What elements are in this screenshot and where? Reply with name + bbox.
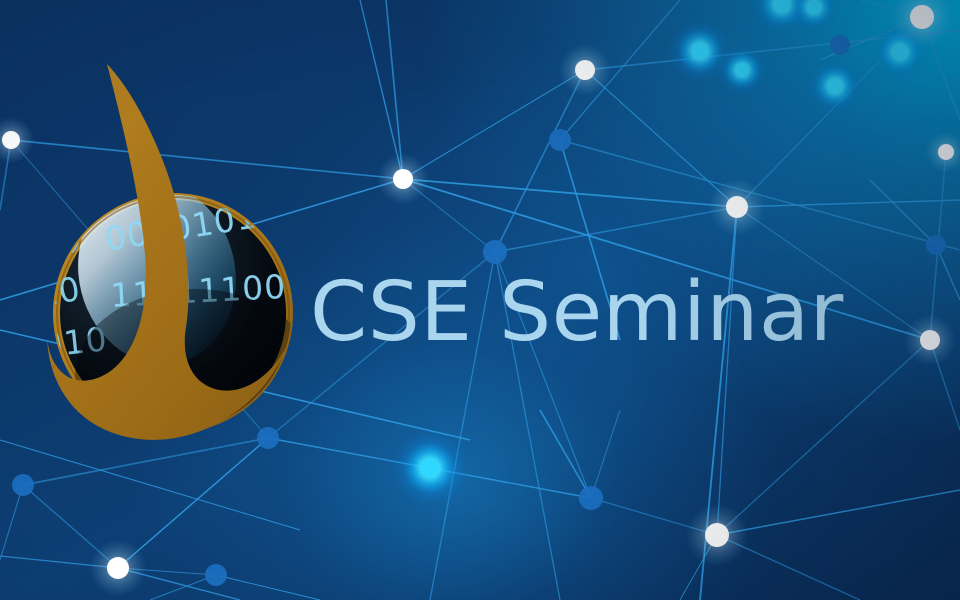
glow-dot — [808, 1, 821, 14]
network-node-white — [2, 131, 20, 149]
network-glow-dots — [392, 0, 929, 506]
network-edge — [585, 70, 737, 207]
network-edge — [737, 200, 960, 207]
cse-seminar-banner: 1 10 10 010 010. 01010 1010110 00101010 … — [0, 0, 960, 600]
svg-text:1: 1 — [45, 173, 74, 217]
network-edge — [495, 207, 737, 252]
network-node-blue — [830, 35, 850, 55]
network-node-white — [393, 169, 413, 189]
network-node-white — [726, 196, 748, 218]
network-edge — [216, 575, 320, 600]
network-node-white — [938, 144, 954, 160]
network-edge — [717, 207, 737, 535]
network-edge — [870, 180, 936, 245]
glow-dot — [692, 43, 708, 59]
network-edge — [403, 179, 737, 207]
network-node-white — [910, 5, 934, 29]
glow-dot — [893, 45, 907, 59]
network-node-white — [107, 557, 129, 579]
page-title: CSE Seminar — [310, 272, 844, 354]
cse-logo: 1 10 10 010 010. 01010 1010110 00101010 … — [45, 45, 325, 445]
network-edge — [540, 410, 591, 498]
network-edge — [0, 440, 300, 530]
network-node-blue — [579, 486, 603, 510]
network-node-white — [705, 523, 729, 547]
network-edge — [591, 410, 620, 498]
network-node-blue — [549, 129, 571, 151]
network-node-white — [575, 60, 595, 80]
network-node-blue — [12, 474, 34, 496]
network-edge — [386, 0, 403, 179]
network-edge — [360, 0, 403, 179]
network-edge — [23, 438, 268, 485]
network-edge — [717, 340, 930, 535]
network-edge — [717, 490, 960, 535]
network-node-blue — [205, 564, 227, 586]
network-edge — [0, 485, 23, 560]
glow-dot — [421, 459, 440, 478]
glow-dot — [736, 64, 749, 77]
network-node-blue — [483, 240, 507, 264]
svg-text:10: 10 — [45, 269, 84, 315]
network-node-blue — [926, 235, 946, 255]
network-edge — [118, 438, 268, 568]
network-node-white — [920, 330, 940, 350]
glow-dot — [828, 79, 842, 93]
